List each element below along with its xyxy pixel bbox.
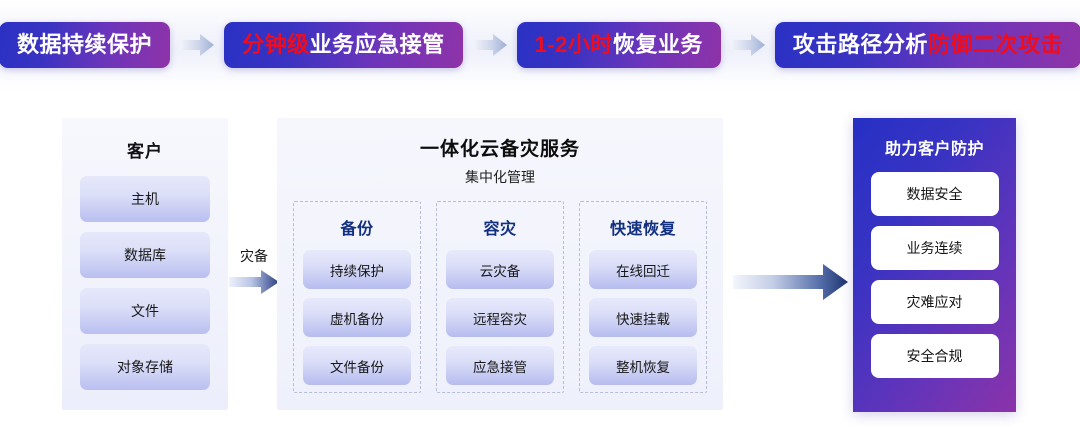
- service-item[interactable]: 应急接管: [446, 346, 554, 385]
- capability-chip-label: 1-2小时恢复业务: [535, 22, 703, 68]
- capability-chip-label: 攻击路径分析防御二次攻击: [793, 22, 1063, 68]
- service-column: 备份持续保护虚机备份文件备份: [293, 201, 421, 393]
- outcome-transfer-arrow: [733, 262, 848, 302]
- service-panel: 一体化云备灾服务 集中化管理 备份持续保护虚机备份文件备份容灾云灾备远程容灾应急…: [277, 118, 723, 410]
- customer-item[interactable]: 文件: [80, 288, 210, 334]
- customer-item[interactable]: 数据库: [80, 232, 210, 278]
- chip-highlight-text: 1-2小时: [535, 32, 613, 57]
- arrow-right-icon: [733, 262, 848, 302]
- customer-panel: 客户 主机数据库文件对象存储: [62, 118, 228, 410]
- service-item[interactable]: 整机恢复: [589, 346, 697, 385]
- service-column: 快速恢复在线回迁快速挂载整机恢复: [579, 201, 707, 393]
- capability-chip[interactable]: 数据持续保护: [0, 22, 170, 68]
- arrow-right-icon: [731, 34, 765, 56]
- chip-text: 数据持续保护: [17, 32, 152, 57]
- service-item[interactable]: 虚机备份: [303, 298, 411, 337]
- capability-chip-label: 分钟级业务应急接管: [242, 22, 445, 68]
- transfer-label: 灾备: [240, 246, 268, 266]
- outcome-item[interactable]: 数据安全: [871, 172, 999, 216]
- capability-chip-label: 数据持续保护: [17, 22, 152, 68]
- capability-chip[interactable]: 攻击路径分析防御二次攻击: [775, 22, 1080, 68]
- capability-chip[interactable]: 1-2小时恢复业务: [517, 22, 721, 68]
- chip-text: 业务应急接管: [310, 32, 445, 57]
- outcome-panel: 助力客户防护 数据安全业务连续灾难应对安全合规: [853, 118, 1016, 412]
- outcome-item[interactable]: 安全合规: [871, 334, 999, 378]
- service-column-header: 备份: [340, 215, 373, 239]
- diagram-root: 数据持续保护分钟级业务应急接管1-2小时恢复业务攻击路径分析防御二次攻击 客户 …: [0, 0, 1080, 429]
- customer-item[interactable]: 主机: [80, 176, 210, 222]
- outcome-panel-title: 助力客户防护: [885, 135, 984, 159]
- service-panel-title: 一体化云备灾服务: [277, 134, 723, 161]
- service-column-header: 容灾: [483, 215, 516, 239]
- disaster-recovery-transfer: 灾备: [228, 246, 280, 306]
- outcome-item[interactable]: 灾难应对: [871, 280, 999, 324]
- service-column-group: 备份持续保护虚机备份文件备份容灾云灾备远程容灾应急接管快速恢复在线回迁快速挂载整…: [277, 201, 723, 393]
- service-item[interactable]: 远程容灾: [446, 298, 554, 337]
- chip-highlight-text: 防御二次攻击: [928, 32, 1063, 57]
- capability-banner: 数据持续保护分钟级业务应急接管1-2小时恢复业务攻击路径分析防御二次攻击: [0, 0, 1080, 90]
- service-item[interactable]: 文件备份: [303, 346, 411, 385]
- service-column-header: 快速恢复: [610, 215, 676, 239]
- chip-text: 恢复业务: [613, 32, 703, 57]
- arrow-right-icon: [180, 34, 214, 56]
- capability-chip[interactable]: 分钟级业务应急接管: [224, 22, 463, 68]
- outcome-item-list: 数据安全业务连续灾难应对安全合规: [871, 172, 999, 378]
- outcome-item[interactable]: 业务连续: [871, 226, 999, 270]
- arrow-right-icon: [229, 269, 279, 295]
- customer-panel-title: 客户: [127, 137, 163, 162]
- service-panel-subtitle: 集中化管理: [277, 167, 723, 187]
- customer-item[interactable]: 对象存储: [80, 344, 210, 390]
- service-item[interactable]: 云灾备: [446, 250, 554, 289]
- customer-item-list: 主机数据库文件对象存储: [80, 176, 210, 390]
- service-item[interactable]: 在线回迁: [589, 250, 697, 289]
- service-column: 容灾云灾备远程容灾应急接管: [436, 201, 564, 393]
- chip-highlight-text: 分钟级: [242, 32, 310, 57]
- service-item[interactable]: 持续保护: [303, 250, 411, 289]
- arrow-right-icon: [473, 34, 507, 56]
- chip-text: 攻击路径分析: [793, 32, 928, 57]
- service-item[interactable]: 快速挂载: [589, 298, 697, 337]
